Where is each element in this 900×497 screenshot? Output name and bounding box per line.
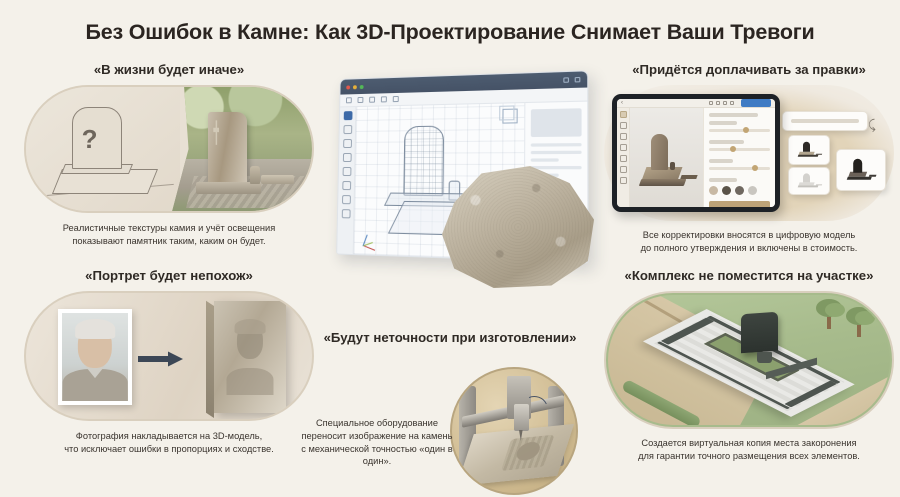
model-vase (670, 162, 675, 170)
tree-trunk (827, 315, 831, 329)
more-icon[interactable] (723, 101, 727, 105)
transfer-arrow-icon (138, 351, 184, 367)
view-cube-icon[interactable] (502, 109, 517, 124)
swatch-light[interactable] (748, 186, 757, 195)
caption-line: что исключает ошибки в пропорциях и сход… (24, 443, 314, 456)
mini-bench (816, 184, 823, 185)
photo-monument (208, 112, 247, 184)
caption-line: переносит изображение на камень (294, 430, 460, 443)
panel-complex-fit: «Комплекс не поместится на участке» (604, 268, 894, 463)
material-swatches (709, 186, 770, 195)
mini-monument (795, 141, 823, 159)
undo-icon[interactable] (709, 101, 713, 105)
card-title-line (791, 119, 859, 123)
mini-bench (869, 175, 877, 177)
panel-title: «Будут неточности при изготовлении» (300, 330, 600, 345)
caption-line: для гарантии точного размещения всех эле… (604, 450, 894, 463)
panel-manufacturing-errors: «Будут неточности при изготовлении» Спец… (300, 330, 600, 497)
infographic-canvas: Без Ошибок в Камне: Как 3D-Проектировани… (0, 0, 900, 488)
measure-icon[interactable] (393, 96, 399, 102)
tool-pen-icon[interactable] (343, 139, 352, 148)
property-line (531, 151, 582, 155)
tool-select-icon[interactable] (620, 111, 627, 118)
settings-icon[interactable] (563, 77, 569, 83)
tool-color-icon[interactable] (620, 144, 627, 151)
panel-caption: Создается виртуальная копия места закоро… (604, 437, 894, 463)
property-line (531, 143, 582, 147)
panel-caption: Специальное оборудование переносит изобр… (294, 417, 460, 468)
window-minimize-dot[interactable] (353, 85, 357, 89)
cnc-machine-art: Специальное оборудование переносит изобр… (300, 345, 600, 497)
source-photo (58, 309, 132, 405)
tree-crown-highlight (855, 311, 875, 325)
monument-model (634, 133, 700, 195)
cnc-circle-frame (450, 367, 578, 495)
redo-icon[interactable] (716, 101, 720, 105)
window-maximize-dot[interactable] (360, 84, 364, 88)
model-bench (680, 175, 697, 179)
photo-inner (62, 313, 128, 401)
plot-stele (741, 312, 778, 354)
question-mark-label: ? (82, 124, 98, 155)
caption-line: до полного утверждения и включены в стои… (604, 242, 894, 255)
caption-line: Все корректировки вносятся в цифровую мо… (604, 229, 894, 242)
variant-card-selected[interactable] (836, 149, 886, 191)
tool-text-icon[interactable] (620, 155, 627, 162)
back-chevron-icon[interactable]: ‹ (621, 100, 623, 106)
slider-handle[interactable] (752, 165, 758, 171)
slider-handle[interactable] (730, 146, 736, 152)
tool-move-icon[interactable] (620, 177, 627, 184)
tree (816, 299, 842, 329)
panel-title: «Комплекс не поместится на участке» (604, 268, 894, 283)
tool-select-icon[interactable] (343, 111, 352, 120)
editor-body (617, 108, 775, 207)
tree-crown-highlight (825, 303, 845, 317)
photo-vase (250, 166, 260, 183)
tool-layers-icon[interactable] (620, 166, 627, 173)
caption-line: Специальное оборудование (294, 417, 460, 430)
portrait-hair (75, 319, 115, 338)
tool-cylinder-icon[interactable] (342, 167, 351, 176)
tree-trunk (857, 323, 861, 337)
panel-title: «Портрет будет непохож» (24, 268, 314, 283)
mini-stele (854, 159, 863, 173)
move-icon[interactable] (357, 97, 363, 103)
topbar-icons (709, 99, 771, 107)
tool-box-icon[interactable] (343, 125, 352, 134)
slab-edge (206, 301, 214, 418)
curved-arrow-icon: ⤹ (868, 117, 876, 133)
caption-line: Создается виртуальная копия места закоро… (604, 437, 894, 450)
preview-thumbnail (531, 108, 582, 137)
apply-button[interactable] (709, 201, 770, 207)
property-label (709, 121, 737, 125)
variant-card[interactable] (788, 167, 830, 195)
model-stele (651, 134, 668, 170)
editor-tool-rail (617, 108, 630, 207)
isometric-plot-art (604, 291, 894, 429)
panel-portrait-unlike: «Портрет будет непохож» (24, 268, 314, 456)
plot-scene (608, 295, 890, 425)
panel-title: «В жизни будет иначе» (24, 62, 314, 77)
tablet-editor-art: ⤹ ‹ (604, 85, 894, 221)
mini-stele (803, 174, 810, 183)
scale-icon[interactable] (369, 97, 375, 103)
mini-monument (795, 173, 823, 190)
split-sketch-photo-art: ? (24, 85, 314, 213)
mini-monument (844, 158, 878, 184)
engraved-slab (214, 301, 286, 413)
cnc-engraved-relief (501, 434, 555, 470)
titlebar-icons (563, 77, 580, 83)
property-slider[interactable] (709, 148, 770, 151)
axis-gizmo (364, 228, 382, 247)
swatch-dark[interactable] (722, 186, 731, 195)
mini-base (847, 176, 872, 179)
property-label (709, 113, 758, 117)
panel-title: «Придётся доплачивать за правки» (604, 62, 894, 77)
engraved-shoulders (226, 368, 274, 395)
editor-topbar: ‹ (617, 99, 775, 108)
axis-x-icon (364, 245, 375, 251)
card-header-bar (782, 111, 868, 131)
mini-bench (816, 154, 823, 155)
tree (846, 307, 872, 337)
editor-properties-panel (703, 108, 775, 207)
save-button[interactable] (741, 99, 771, 107)
sketch-half: ? (26, 87, 180, 211)
property-line (531, 166, 582, 169)
wireframe-stele (403, 126, 444, 196)
mini-base (797, 185, 817, 187)
property-label (709, 159, 733, 163)
tablet-screen: ‹ (617, 99, 775, 207)
photo-bench (261, 175, 294, 184)
property-label (709, 140, 744, 144)
fullscreen-icon[interactable] (730, 101, 734, 105)
panel-extra-payment: «Придётся доплачивать за правки» (604, 62, 894, 255)
swatch-beige[interactable] (709, 186, 718, 195)
model-base (639, 179, 687, 186)
property-slider[interactable] (709, 167, 770, 170)
tool-shape-icon[interactable] (620, 122, 627, 129)
photo-to-engraving-art (24, 291, 314, 421)
caption-line: показывают памятник таким, каким он буде… (24, 235, 314, 248)
photo-half (163, 87, 312, 211)
material-label (709, 178, 737, 182)
tool-material-icon[interactable] (342, 195, 351, 204)
engraved-portrait (226, 319, 274, 395)
panel-caption: Все корректировки вносятся в цифровую мо… (604, 229, 894, 255)
plot-vase (757, 352, 771, 362)
panel-caption: Реалистичные текстуры камия и учёт освещ… (24, 222, 314, 248)
tool-pen-icon[interactable] (620, 133, 627, 140)
panel-caption: Фотография накладывается на 3D-модель, ч… (24, 430, 314, 456)
engraved-hair (234, 319, 265, 334)
page-title: Без Ошибок в Камне: Как 3D-Проектировани… (0, 20, 900, 45)
center-cad-illustration (330, 70, 600, 300)
tablet-device: ‹ (612, 94, 780, 212)
editor-canvas[interactable] (630, 108, 703, 207)
mini-stele (803, 142, 810, 152)
photo-base (196, 182, 261, 193)
rotate-icon[interactable] (381, 96, 387, 102)
property-line (531, 158, 559, 161)
caption-line: с механической точностью «один в один». (294, 443, 460, 469)
tool-circle-icon[interactable] (342, 153, 351, 162)
window-close-dot[interactable] (346, 85, 350, 89)
layers-icon[interactable] (575, 77, 581, 83)
caption-line: Реалистичные текстуры камия и учёт освещ… (24, 222, 314, 235)
caption-line: Фотография накладывается на 3D-модель, (24, 430, 314, 443)
variant-card[interactable] (788, 135, 830, 165)
swatch-gray[interactable] (735, 186, 744, 195)
panel-life-different: «В жизни будет иначе» ? (24, 62, 314, 248)
variant-cards: ⤹ (782, 111, 888, 195)
tool-text-icon[interactable] (342, 181, 351, 190)
property-slider[interactable] (709, 129, 770, 132)
slider-handle[interactable] (743, 127, 749, 133)
tool-light-icon[interactable] (341, 209, 350, 218)
file-icon[interactable] (346, 97, 352, 103)
